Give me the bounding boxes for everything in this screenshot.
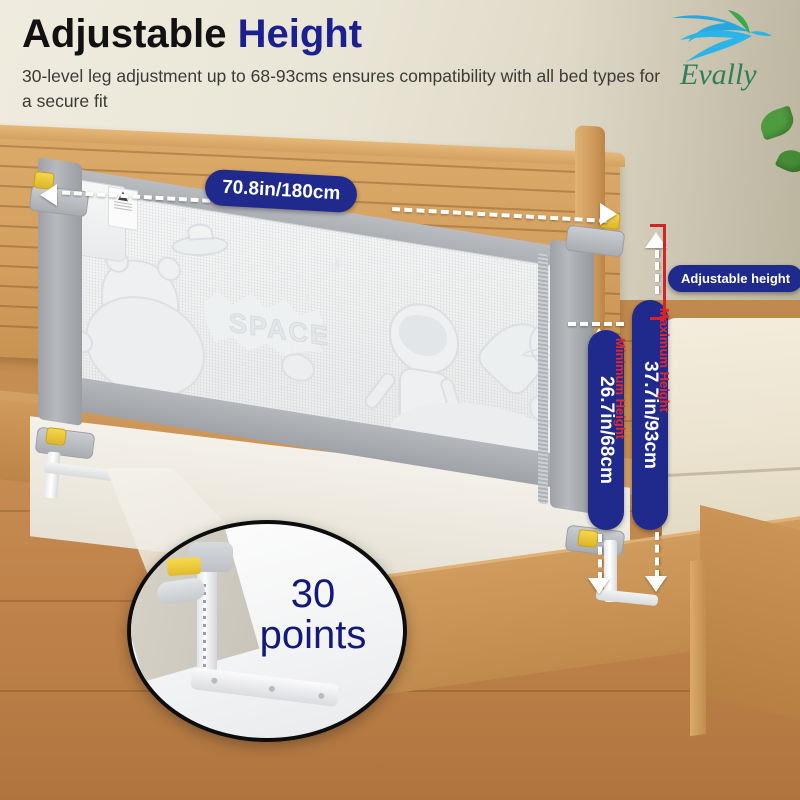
page-title: Adjustable Height: [22, 14, 662, 54]
product-marketing-image: SPACE: [0, 0, 800, 800]
yellow-lock-icon: [45, 427, 67, 446]
title-plain: Adjustable: [22, 12, 238, 56]
points-unit: points: [243, 615, 383, 656]
min-height-label: Minimum Height: [613, 338, 628, 439]
min-dimension-line: [598, 534, 602, 580]
arrow-left-icon: [40, 184, 57, 206]
arrow-right-icon: [600, 203, 617, 225]
page-subtitle: 30-level leg adjustment up to 68-93cms e…: [22, 64, 662, 115]
max-height-label: Maximum Height: [657, 308, 672, 412]
magnifier-callout: 30 points: [127, 520, 407, 742]
arrow-down-icon: [588, 578, 610, 594]
adjustable-height-badge: Adjustable height: [668, 265, 800, 292]
bed-frame-right: [700, 505, 800, 725]
header-block: Adjustable Height 30-level leg adjustmen…: [22, 14, 662, 115]
brand-logo: Evally: [666, 6, 786, 102]
adjustable-range-bracket: [650, 224, 666, 320]
points-callout: 30 points: [243, 574, 383, 656]
yellow-lock-icon: [577, 529, 599, 548]
arrow-down-icon: [645, 576, 667, 592]
min-tick-top: [568, 322, 624, 326]
brand-name: Evally: [680, 58, 757, 92]
bed-frame-corner-post: [690, 559, 706, 736]
leg-foot-bar: [190, 667, 340, 707]
rail-zipper: [538, 253, 548, 505]
max-dimension-line: [655, 532, 659, 578]
yellow-lock-icon: [166, 557, 201, 576]
title-highlight: Height: [238, 12, 362, 56]
leg-adjustment-holes: [203, 584, 206, 680]
bed-rail-guard: SPACE: [22, 182, 592, 502]
points-count: 30: [243, 574, 383, 615]
